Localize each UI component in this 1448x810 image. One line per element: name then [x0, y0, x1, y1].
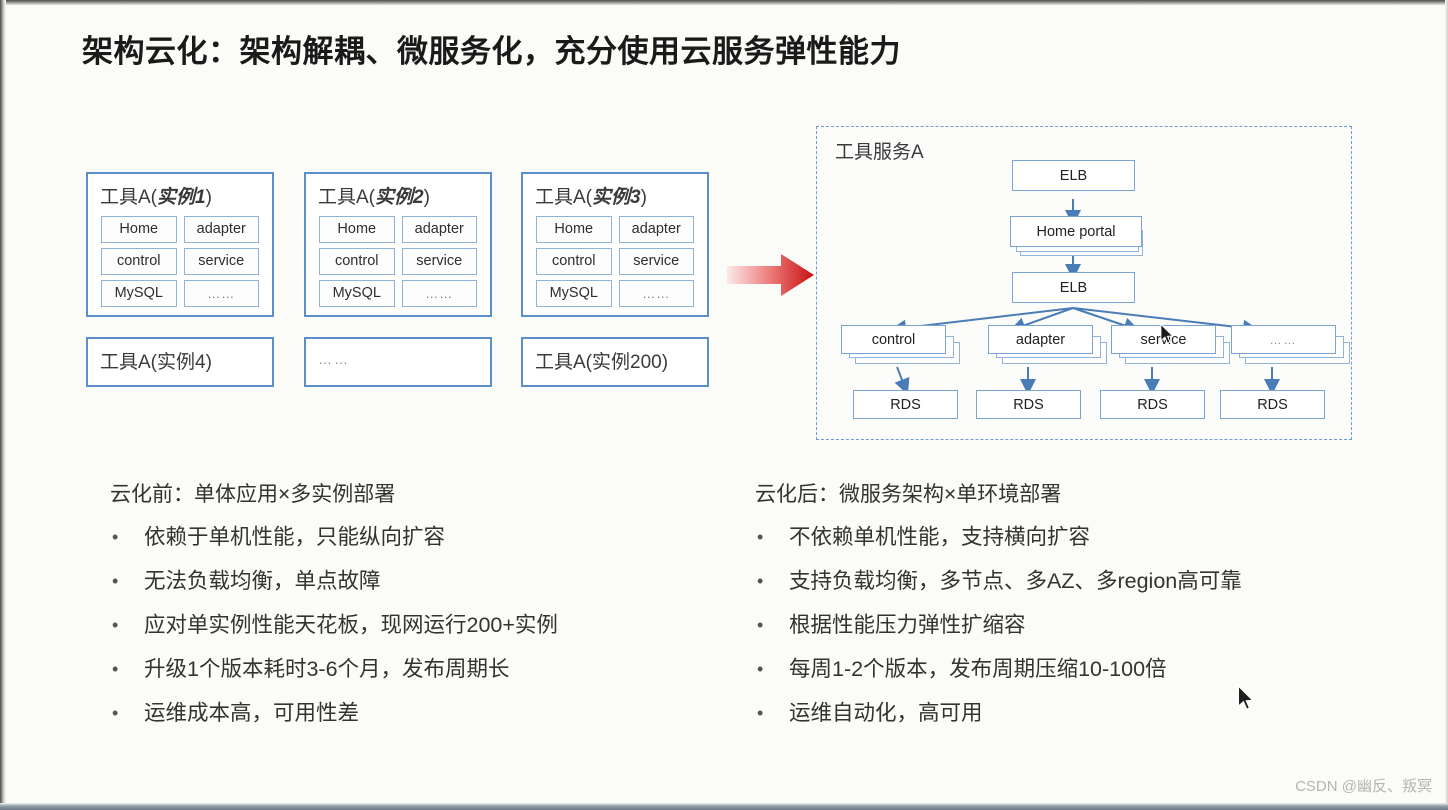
bullet-marker: •: [757, 691, 763, 735]
left-column-heading: 云化前：单体应用×多实例部署: [110, 478, 395, 508]
node-home-portal: Home portal: [1010, 216, 1142, 247]
node-adapter: adapter: [988, 325, 1093, 354]
list-item: •运维自动化，高可用: [749, 691, 1242, 735]
bullet-marker: •: [757, 515, 763, 559]
module-home: Home: [101, 216, 177, 243]
instance-box-1-modules: Home adapter control service MySQL ……: [101, 216, 259, 307]
node-service: service: [1111, 325, 1216, 354]
instance-box-3-modules: Home adapter control service MySQL ……: [536, 216, 694, 307]
list-item: •升级1个版本耗时3-6个月，发布周期长: [104, 647, 558, 691]
module-service: service: [402, 248, 478, 275]
cloud-architecture-panel: 工具服务A ELB Home portal ELB control adapte…: [816, 126, 1352, 440]
bullet-marker: •: [112, 515, 118, 559]
module-more: ……: [619, 280, 695, 307]
instance-box-4-label: 工具A(实例4): [100, 347, 212, 374]
module-adapter: adapter: [402, 216, 478, 243]
bullet-marker: •: [112, 603, 118, 647]
instance-box-200-label: 工具A(实例200): [535, 347, 668, 374]
module-service: service: [619, 248, 695, 275]
module-more: ……: [402, 280, 478, 307]
bullet-marker: •: [112, 691, 118, 735]
instance-box-4: 工具A(实例4): [86, 337, 274, 387]
page-title: 架构云化：架构解耦、微服务化，充分使用云服务弹性能力: [82, 26, 901, 71]
instance-box-ellipsis-label: ……: [318, 351, 350, 367]
bullet-marker: •: [112, 559, 118, 603]
cloud-panel-title: 工具服务A: [835, 137, 924, 164]
node-rds-4: RDS: [1220, 390, 1325, 419]
list-item: •依赖于单机性能，只能纵向扩容: [104, 515, 558, 559]
right-column-heading: 云化后：微服务架构×单环境部署: [755, 478, 1061, 508]
node-control: control: [841, 325, 946, 354]
csdn-watermark: CSDN @幽反、叛冥: [1295, 775, 1432, 796]
bullet-marker: •: [757, 603, 763, 647]
list-item: •应对单实例性能天花板，现网运行200+实例: [104, 603, 558, 647]
list-item-text: 依赖于单机性能，只能纵向扩容: [144, 525, 445, 549]
list-item-text: 根据性能压力弹性扩缩容: [789, 613, 1026, 637]
list-item-text: 无法负载均衡，单点故障: [144, 569, 381, 593]
frame-edge-left: [0, 0, 6, 810]
list-item: •支持负载均衡，多节点、多AZ、多region高可靠: [749, 559, 1242, 603]
frame-edge-top: [0, 0, 1448, 5]
right-column-bullets: •不依赖单机性能，支持横向扩容 •支持负载均衡，多节点、多AZ、多region高…: [749, 515, 1242, 735]
instance-box-2-label: 工具A(实例2): [318, 182, 430, 209]
list-item-text: 升级1个版本耗时3-6个月，发布周期长: [144, 657, 510, 681]
instance-box-200: 工具A(实例200): [521, 337, 709, 387]
instance-box-2-modules: Home adapter control service MySQL ……: [319, 216, 477, 307]
frame-edge-bottom: [0, 803, 1448, 810]
red-right-arrow-icon: [727, 252, 815, 298]
list-item-text: 运维成本高，可用性差: [144, 701, 359, 725]
module-home: Home: [319, 216, 395, 243]
node-elb-top: ELB: [1012, 160, 1135, 191]
node-rds-2: RDS: [976, 390, 1081, 419]
instance-box-3: 工具A(实例3) Home adapter control service My…: [521, 172, 709, 317]
list-item: •不依赖单机性能，支持横向扩容: [749, 515, 1242, 559]
list-item: •每周1-2个版本，发布周期压缩10-100倍: [749, 647, 1242, 691]
instance-box-2: 工具A(实例2) Home adapter control service My…: [304, 172, 492, 317]
list-item-text: 每周1-2个版本，发布周期压缩10-100倍: [789, 657, 1167, 681]
list-item-text: 应对单实例性能天花板，现网运行200+实例: [144, 613, 558, 637]
list-item-text: 支持负载均衡，多节点、多AZ、多region高可靠: [789, 569, 1242, 593]
instance-box-ellipsis: ……: [304, 337, 492, 387]
list-item-text: 运维自动化，高可用: [789, 701, 983, 725]
node-elb-mid: ELB: [1012, 272, 1135, 303]
list-item-text: 不依赖单机性能，支持横向扩容: [789, 525, 1090, 549]
module-control: control: [319, 248, 395, 275]
module-mysql: MySQL: [536, 280, 612, 307]
list-item: •无法负载均衡，单点故障: [104, 559, 558, 603]
list-item: •根据性能压力弹性扩缩容: [749, 603, 1242, 647]
module-more: ……: [184, 280, 260, 307]
list-item: •运维成本高，可用性差: [104, 691, 558, 735]
node-rds-3: RDS: [1100, 390, 1205, 419]
instance-box-3-label: 工具A(实例3): [535, 182, 647, 209]
module-service: service: [184, 248, 260, 275]
module-control: control: [101, 248, 177, 275]
module-control: control: [536, 248, 612, 275]
bullet-marker: •: [757, 559, 763, 603]
bullet-marker: •: [757, 647, 763, 691]
instance-box-1-label: 工具A(实例1): [100, 182, 212, 209]
instance-box-1: 工具A(实例1) Home adapter control service My…: [86, 172, 274, 317]
bullet-marker: •: [112, 647, 118, 691]
left-column-bullets: •依赖于单机性能，只能纵向扩容 •无法负载均衡，单点故障 •应对单实例性能天花板…: [104, 515, 558, 735]
node-more-services: ……: [1231, 325, 1336, 354]
module-mysql: MySQL: [101, 280, 177, 307]
slide-canvas: 架构云化：架构解耦、微服务化，充分使用云服务弹性能力 工具A(实例1) Home…: [0, 0, 1448, 810]
node-rds-1: RDS: [853, 390, 958, 419]
module-mysql: MySQL: [319, 280, 395, 307]
module-adapter: adapter: [184, 216, 260, 243]
module-home: Home: [536, 216, 612, 243]
module-adapter: adapter: [619, 216, 695, 243]
